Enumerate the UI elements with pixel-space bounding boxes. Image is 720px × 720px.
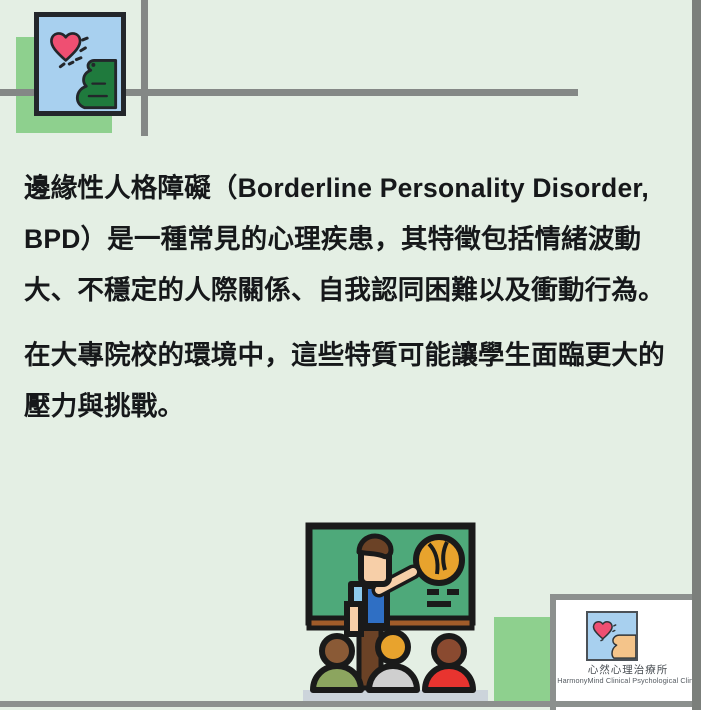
- watermark-name-zh: 心然心理治療所: [556, 662, 700, 677]
- slide-canvas: 邊緣性人格障礙（Borderline Personality Disorder,…: [0, 0, 720, 720]
- divider-horizontal-bottom: [0, 701, 692, 707]
- edge-bottom-background: [0, 710, 720, 720]
- classroom-illustration: [303, 522, 488, 705]
- paragraph-2: 在大專院校的環境中，這些特質可能讓學生面臨更大的壓力與挑戰。: [24, 330, 676, 432]
- watermark-name-en: HarmonyMind Clinical Psychological Clini…: [556, 676, 700, 685]
- paragraph-1: 邊緣性人格障礙（Borderline Personality Disorder,…: [24, 163, 676, 316]
- divider-vertical-top: [141, 0, 148, 136]
- accent-block-bottom-right: [494, 617, 556, 701]
- heart-and-person-logo-icon: [39, 17, 121, 111]
- body-copy: 邊緣性人格障礙（Borderline Personality Disorder,…: [24, 163, 676, 432]
- teacher-classroom-illustration-icon: [303, 522, 488, 705]
- brand-logo-tile: [34, 12, 126, 116]
- clinic-heart-logo-icon: [586, 611, 638, 661]
- edge-right-border: [692, 0, 701, 712]
